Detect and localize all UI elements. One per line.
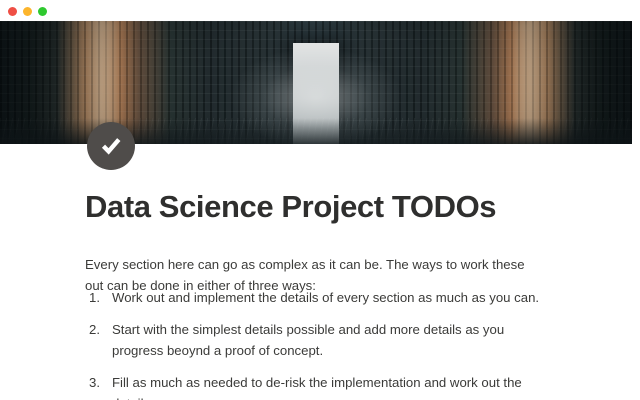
cover-vignette — [0, 21, 632, 144]
list-item[interactable]: Start with the simplest details possible… — [85, 319, 547, 361]
page-right-margin — [632, 21, 640, 400]
minimize-window-button[interactable] — [23, 7, 32, 16]
list-item[interactable]: Fill as much as needed to de-risk the im… — [85, 372, 547, 400]
page-content: Data Science Project TODOs Every section… — [0, 144, 632, 400]
close-window-button[interactable] — [8, 7, 17, 16]
page-icon-check-badge[interactable] — [87, 122, 135, 170]
page-title[interactable]: Data Science Project TODOs — [85, 189, 496, 225]
list-item[interactable]: Work out and implement the details of ev… — [85, 287, 547, 308]
page-cover-image[interactable] — [0, 21, 632, 144]
window-controls — [8, 7, 47, 16]
maximize-window-button[interactable] — [38, 7, 47, 16]
check-icon — [97, 132, 125, 160]
window-titlebar — [0, 0, 640, 21]
todo-list: Work out and implement the details of ev… — [85, 287, 547, 400]
app-window: Data Science Project TODOs Every section… — [0, 0, 640, 400]
